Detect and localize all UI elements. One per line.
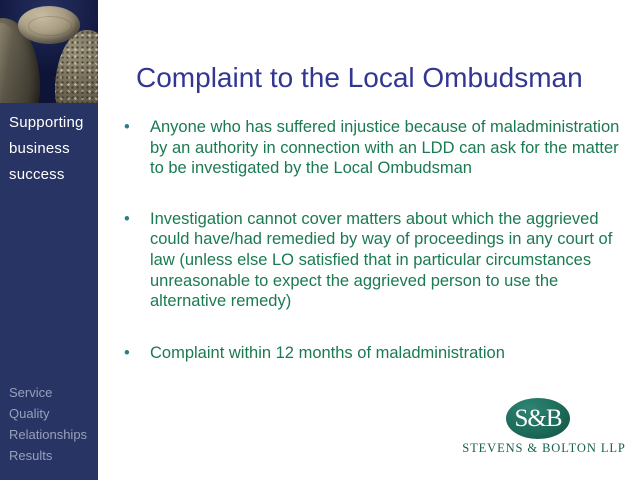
bullet-text: Anyone who has suffered injustice becaus… — [150, 117, 620, 179]
slide-title: Complaint to the Local Ombudsman — [136, 61, 626, 95]
sidebar: Supporting business success Service Qual… — [0, 0, 98, 480]
bullet-item: • Anyone who has suffered injustice beca… — [120, 117, 620, 179]
logo-ellipse-icon: S&B — [506, 398, 570, 439]
value-item-results: Results — [9, 445, 98, 466]
bullet-list: • Anyone who has suffered injustice beca… — [120, 117, 620, 363]
bullet-dot-icon: • — [124, 117, 134, 138]
value-item-service: Service — [9, 382, 98, 403]
tagline-line-2: business — [9, 136, 97, 162]
logo-firm-name: STEVENS & BOLTON LLP — [455, 441, 633, 455]
value-item-quality: Quality — [9, 403, 98, 424]
pebble-top-oval — [18, 6, 80, 44]
company-logo: S&B STEVENS & BOLTON LLP — [455, 398, 633, 460]
bullet-item: • Complaint within 12 months of maladmin… — [120, 343, 620, 364]
value-item-relationships: Relationships — [9, 424, 98, 445]
sidebar-values-list: Service Quality Relationships Results — [9, 382, 98, 466]
sidebar-tagline: Supporting business success — [9, 110, 97, 188]
bullet-text: Complaint within 12 months of maladminis… — [150, 343, 620, 364]
slide-canvas: Supporting business success Service Qual… — [0, 0, 640, 480]
tagline-line-1: Supporting — [9, 110, 97, 136]
bullet-item: • Investigation cannot cover matters abo… — [120, 209, 620, 312]
bullet-text: Investigation cannot cover matters about… — [150, 209, 620, 312]
logo-monogram: S&B — [506, 406, 570, 431]
pebbles-photo — [0, 0, 98, 103]
bullet-dot-icon: • — [124, 209, 134, 230]
tagline-line-3: success — [9, 162, 97, 188]
bullet-dot-icon: • — [124, 343, 134, 364]
